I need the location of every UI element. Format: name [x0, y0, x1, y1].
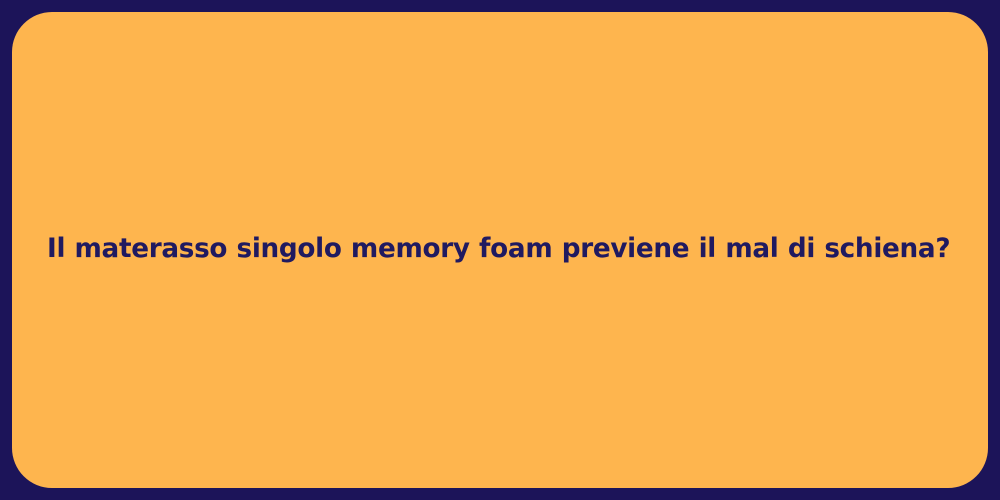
card-outer-frame: Il materasso singolo memory foam previen… [0, 0, 1000, 500]
card-panel: Il materasso singolo memory foam previen… [12, 12, 988, 488]
headline-question: Il materasso singolo memory foam previen… [47, 233, 953, 267]
